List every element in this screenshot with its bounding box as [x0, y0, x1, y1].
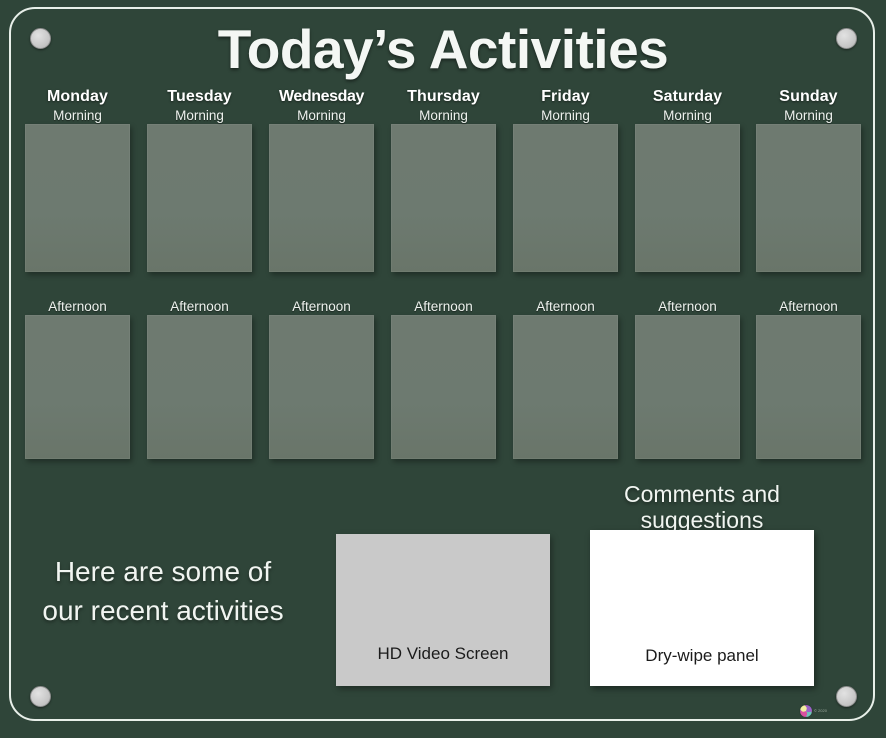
day-column-sunday: Sunday Morning Afternoon [756, 88, 861, 466]
morning-block-tuesday: Tuesday Morning [147, 88, 252, 272]
afternoon-block-monday: Afternoon [25, 299, 130, 459]
day-label-monday: Monday [25, 88, 130, 106]
slot-label-tuesday-morning: Morning [147, 108, 252, 124]
slot-label-monday-morning: Morning [25, 108, 130, 124]
watermark-text: © 2020 [814, 708, 827, 714]
photo-slot-saturday-morning[interactable] [635, 124, 740, 272]
photo-slot-monday-afternoon[interactable] [25, 315, 130, 459]
slot-label-sunday-morning: Morning [756, 108, 861, 124]
photo-slot-tuesday-morning[interactable] [147, 124, 252, 272]
recent-activities-caption: Here are some of our recent activities [33, 552, 293, 630]
afternoon-block-wednesday: Afternoon [269, 299, 374, 459]
page-title: Today’s Activities [0, 20, 886, 78]
photo-slot-friday-morning[interactable] [513, 124, 618, 272]
morning-block-saturday: Saturday Morning [635, 88, 740, 272]
morning-block-wednesday: Wednesday Morning [269, 88, 374, 272]
slot-label-sunday-afternoon: Afternoon [756, 299, 861, 315]
day-column-thursday: Thursday Morning Afternoon [391, 88, 496, 466]
week-grid: Monday Morning Afternoon Tuesday Morning… [25, 88, 861, 466]
hd-video-screen[interactable]: HD Video Screen [336, 534, 550, 686]
photo-slot-wednesday-morning[interactable] [269, 124, 374, 272]
screw-bottom-right [836, 686, 857, 707]
comments-heading: Comments and suggestions [590, 481, 814, 533]
dry-wipe-panel-label: Dry-wipe panel [590, 646, 814, 666]
day-column-saturday: Saturday Morning Afternoon [635, 88, 740, 466]
slot-label-thursday-afternoon: Afternoon [391, 299, 496, 315]
slot-label-tuesday-afternoon: Afternoon [147, 299, 252, 315]
watermark: © 2020 [800, 705, 827, 717]
day-label-saturday: Saturday [635, 88, 740, 106]
afternoon-block-thursday: Afternoon [391, 299, 496, 459]
morning-block-monday: Monday Morning [25, 88, 130, 272]
afternoon-block-saturday: Afternoon [635, 299, 740, 459]
slot-label-saturday-afternoon: Afternoon [635, 299, 740, 315]
slot-label-thursday-morning: Morning [391, 108, 496, 124]
afternoon-block-tuesday: Afternoon [147, 299, 252, 459]
slot-label-wednesday-afternoon: Afternoon [269, 299, 374, 315]
slot-label-friday-afternoon: Afternoon [513, 299, 618, 315]
photo-slot-sunday-afternoon[interactable] [756, 315, 861, 459]
slot-label-friday-morning: Morning [513, 108, 618, 124]
photo-slot-thursday-morning[interactable] [391, 124, 496, 272]
morning-block-thursday: Thursday Morning [391, 88, 496, 272]
slot-label-monday-afternoon: Afternoon [25, 299, 130, 315]
morning-block-sunday: Sunday Morning [756, 88, 861, 272]
day-label-friday: Friday [513, 88, 618, 106]
day-label-tuesday: Tuesday [147, 88, 252, 106]
photo-slot-saturday-afternoon[interactable] [635, 315, 740, 459]
day-label-thursday: Thursday [391, 88, 496, 106]
day-label-wednesday: Wednesday [269, 88, 374, 106]
day-column-monday: Monday Morning Afternoon [25, 88, 130, 466]
hd-video-screen-label: HD Video Screen [336, 644, 550, 664]
morning-block-friday: Friday Morning [513, 88, 618, 272]
afternoon-block-sunday: Afternoon [756, 299, 861, 459]
afternoon-block-friday: Afternoon [513, 299, 618, 459]
day-column-tuesday: Tuesday Morning Afternoon [147, 88, 252, 466]
day-label-sunday: Sunday [756, 88, 861, 106]
photo-slot-thursday-afternoon[interactable] [391, 315, 496, 459]
photo-slot-sunday-morning[interactable] [756, 124, 861, 272]
flower-logo-icon [800, 705, 812, 717]
activities-board: Today’s Activities Monday Morning Aftern… [0, 0, 886, 738]
photo-slot-tuesday-afternoon[interactable] [147, 315, 252, 459]
photo-slot-wednesday-afternoon[interactable] [269, 315, 374, 459]
slot-label-saturday-morning: Morning [635, 108, 740, 124]
screw-bottom-left [30, 686, 51, 707]
day-column-wednesday: Wednesday Morning Afternoon [269, 88, 374, 466]
photo-slot-monday-morning[interactable] [25, 124, 130, 272]
dry-wipe-panel[interactable]: Dry-wipe panel [590, 530, 814, 686]
slot-label-wednesday-morning: Morning [269, 108, 374, 124]
day-column-friday: Friday Morning Afternoon [513, 88, 618, 466]
photo-slot-friday-afternoon[interactable] [513, 315, 618, 459]
